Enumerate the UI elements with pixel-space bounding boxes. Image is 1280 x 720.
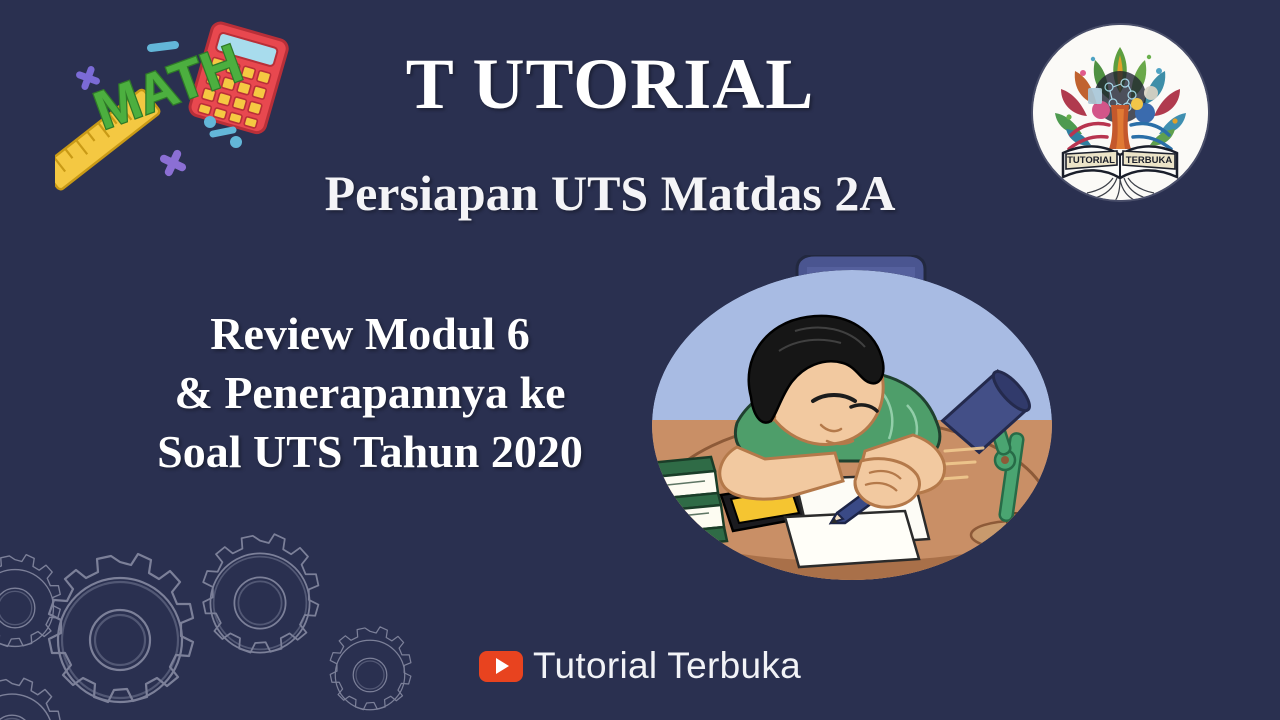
channel-name: Tutorial Terbuka — [533, 645, 801, 687]
logo-banner-right: TERBUKA — [1126, 155, 1173, 166]
description-line-3: Soal UTS Tahun 2020 — [70, 423, 670, 482]
channel-branding: Tutorial Terbuka — [0, 645, 1280, 687]
logo-banner-left: TUTORIAL — [1067, 155, 1115, 166]
minus-sign — [151, 45, 175, 48]
page-subtitle: Persiapan UTS Matdas 2A — [250, 168, 970, 218]
video-thumbnail: MATH — [0, 0, 1280, 720]
description-line-2: & Penerapannya ke — [70, 364, 670, 423]
page-title: T UTORIAL — [300, 48, 920, 120]
description-line-1: Review Modul 6 — [70, 305, 670, 364]
youtube-play-icon — [479, 651, 523, 682]
student-studying-illustration — [645, 255, 1060, 585]
description-block: Review Modul 6 & Penerapannya ke Soal UT… — [70, 305, 670, 482]
channel-logo-badge: TUTORIAL TERBUKA — [1033, 25, 1208, 200]
